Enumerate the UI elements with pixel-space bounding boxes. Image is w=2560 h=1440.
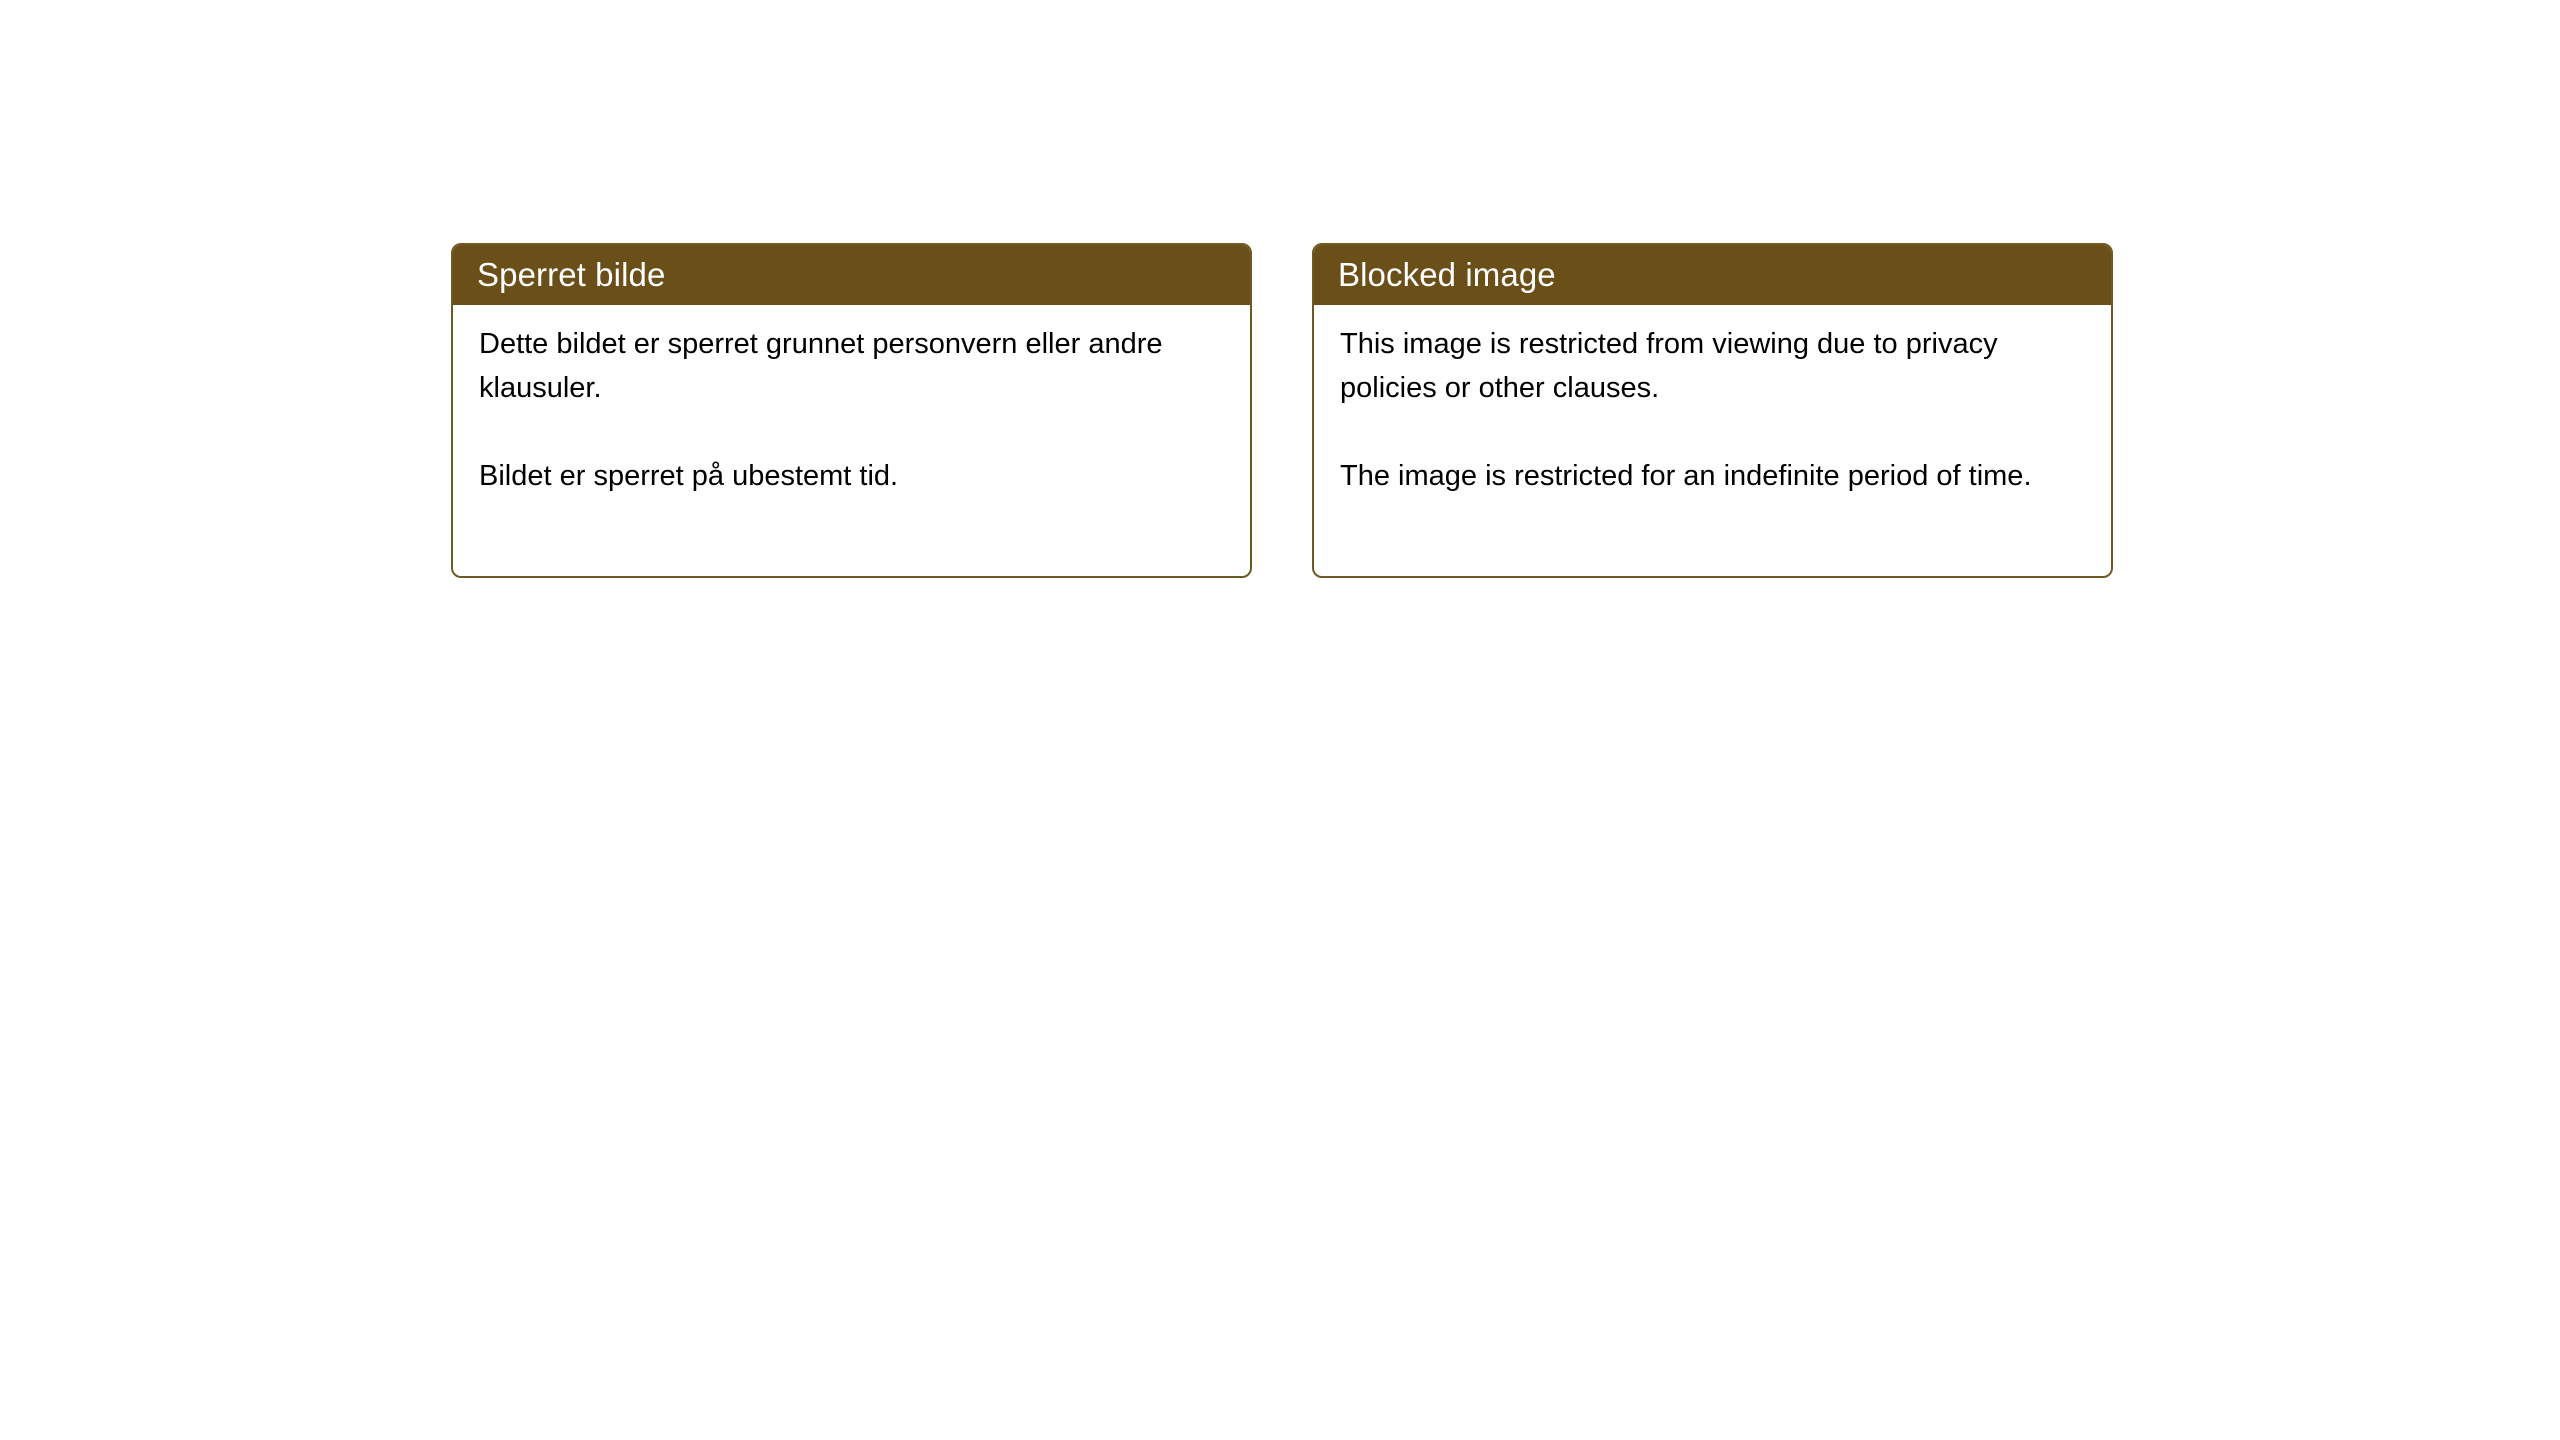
- notice-paragraph: Dette bildet er sperret grunnet personve…: [479, 322, 1226, 410]
- notice-header-en: Blocked image: [1314, 245, 2111, 305]
- notice-paragraph: Bildet er sperret på ubestemt tid.: [479, 454, 1226, 498]
- notice-header-no: Sperret bilde: [453, 245, 1250, 305]
- page-root: Sperret bilde Dette bildet er sperret gr…: [0, 0, 2560, 1440]
- notice-paragraph: The image is restricted for an indefinit…: [1340, 454, 2087, 498]
- notice-title-no: Sperret bilde: [477, 256, 665, 294]
- blocked-image-notice-card-en: Blocked image This image is restricted f…: [1312, 243, 2113, 578]
- blocked-image-notice-card-no: Sperret bilde Dette bildet er sperret gr…: [451, 243, 1252, 578]
- notice-paragraph: This image is restricted from viewing du…: [1340, 322, 2087, 410]
- blocked-image-notice-group: Sperret bilde Dette bildet er sperret gr…: [451, 243, 2113, 578]
- notice-title-en: Blocked image: [1338, 256, 1556, 294]
- notice-body-en: This image is restricted from viewing du…: [1314, 305, 2111, 576]
- notice-body-no: Dette bildet er sperret grunnet personve…: [453, 305, 1250, 576]
